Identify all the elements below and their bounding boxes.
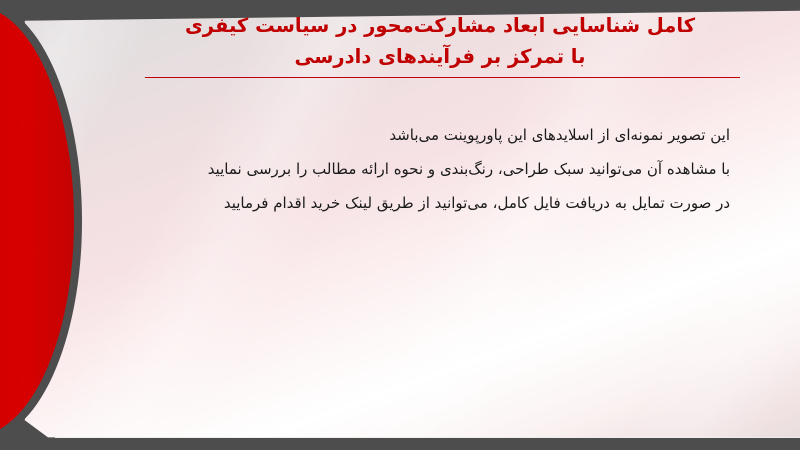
slide-body-line-2: با مشاهده آن می‌توانید سبک طراحی، رنگ‌بن…	[110, 152, 730, 186]
slide-body: این تصویر نمونه‌ای از اسلایدهای این پاور…	[110, 118, 730, 220]
title-underline	[145, 77, 740, 78]
slide-title: کامل شناسایی ابعاد مشارکت‌محور در سیاست …	[110, 10, 770, 72]
slide-body-line-3: در صورت تمایل به دریافت فایل کامل، می‌تو…	[110, 186, 730, 220]
panel-bottom-edge	[55, 437, 800, 438]
slide-title-line-2: با تمرکز بر فرآیندهای دادرسی	[110, 41, 770, 72]
slide-title-line-1: کامل شناسایی ابعاد مشارکت‌محور در سیاست …	[110, 10, 770, 41]
slide-body-line-1: این تصویر نمونه‌ای از اسلایدهای این پاور…	[110, 118, 730, 152]
slide-canvas: کامل شناسایی ابعاد مشارکت‌محور در سیاست …	[0, 0, 800, 450]
